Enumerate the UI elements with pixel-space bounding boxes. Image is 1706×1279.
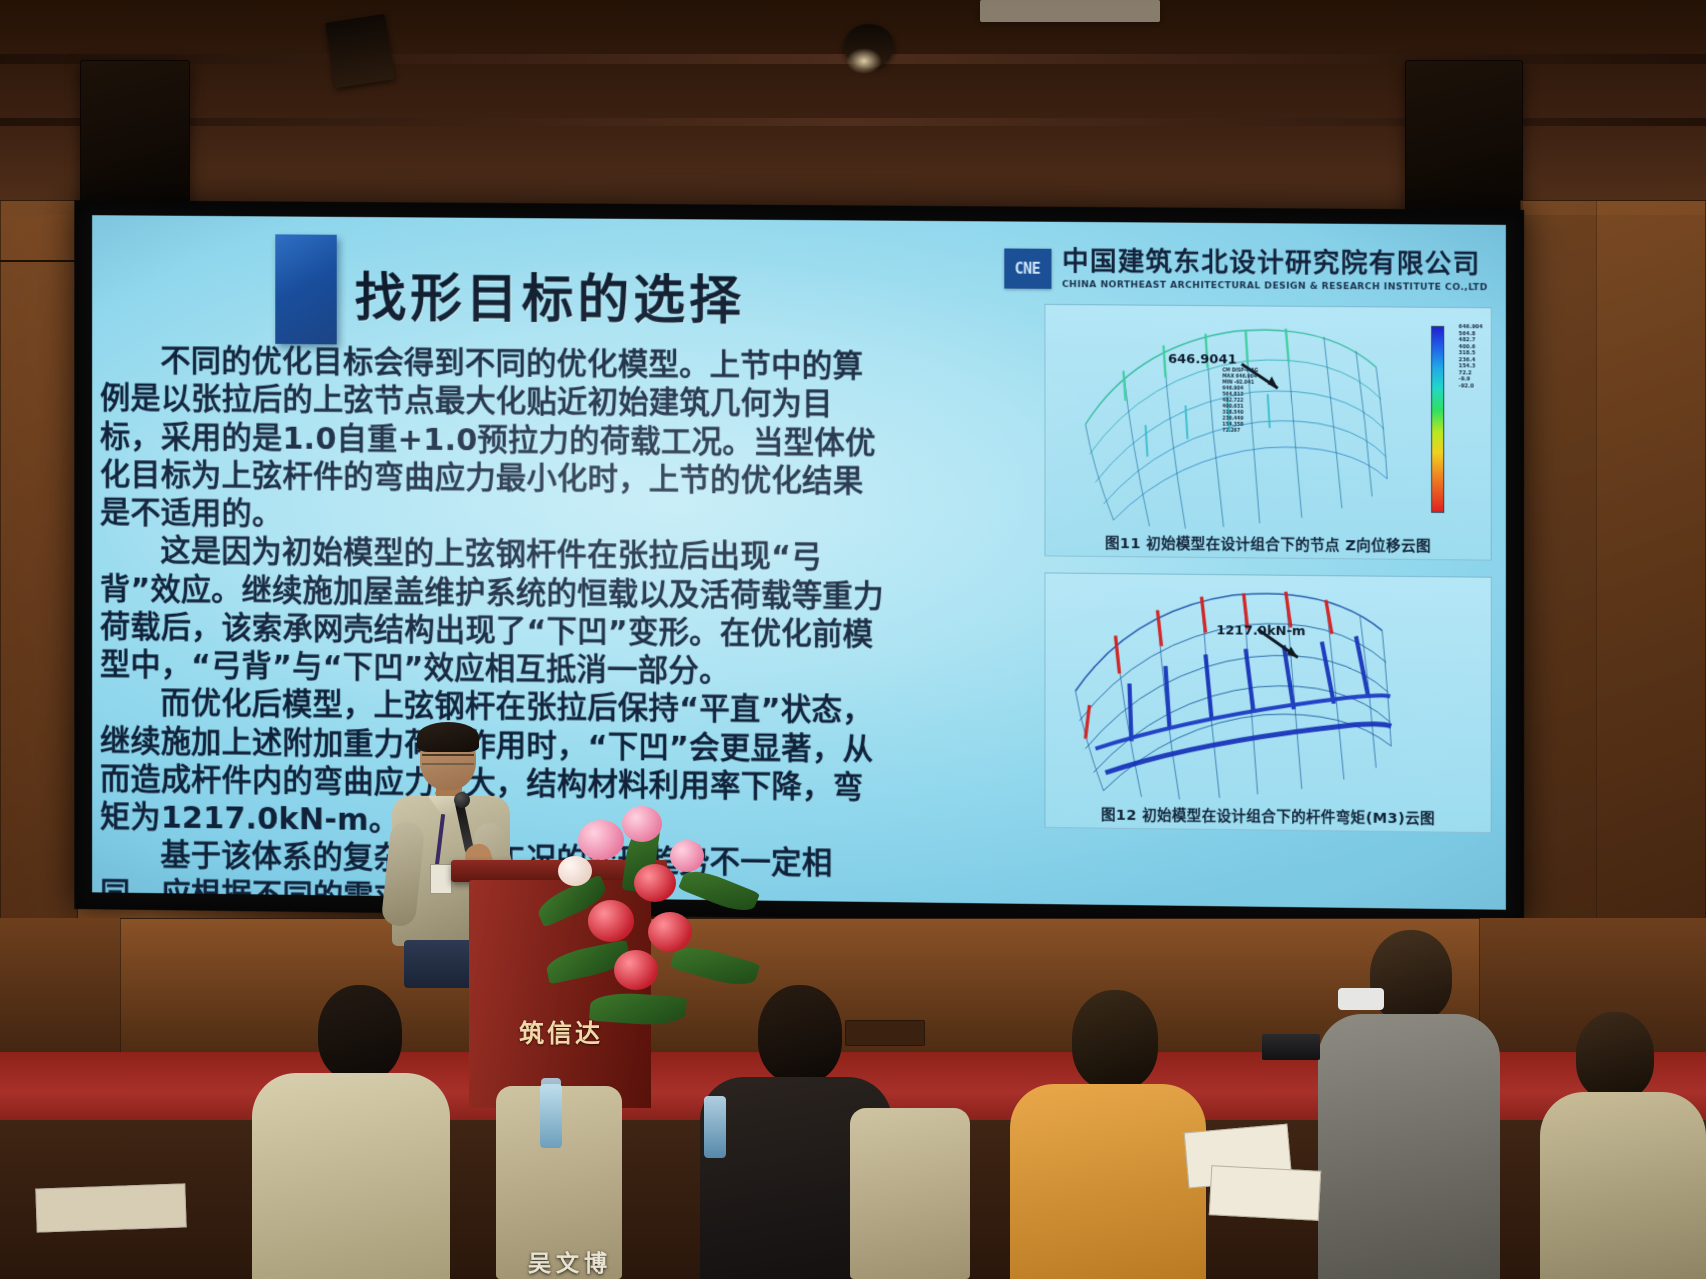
company-name-en: CHINA NORTHEAST ARCHITECTURAL DESIGN & R… — [1062, 279, 1488, 293]
figure-11: 646.9041 646.904564.8482.7400.6318.5236.… — [1044, 304, 1491, 561]
light-glow — [846, 48, 882, 74]
microphone-head-icon — [454, 792, 470, 808]
audience-head — [1576, 1012, 1654, 1100]
slide-title-row: 找形目标的选择 — [275, 234, 745, 347]
projection-screen: 找形目标的选择 CNE 中国建筑东北设计研究院有限公司 CHINA NORTHE… — [74, 200, 1524, 927]
leaf — [670, 941, 760, 992]
company-name-cn: 中国建筑东北设计研究院有限公司 — [1062, 248, 1488, 279]
stage-wall-left — [0, 918, 120, 1068]
device — [1262, 1034, 1320, 1060]
audience-shoulders — [1540, 1092, 1706, 1279]
audience-head — [1072, 990, 1158, 1090]
audience-head — [758, 985, 842, 1083]
stage-light — [325, 14, 395, 89]
fem-moment-contour-plot — [1045, 573, 1490, 806]
audience-member — [1540, 1012, 1706, 1279]
flower-bloom — [558, 856, 592, 886]
figure-11-annotation: 646.9041 — [1168, 352, 1237, 368]
audience-member — [250, 985, 450, 1279]
figure-11-caption: 图11 初始模型在设计组合下的节点 Z向位移云图 — [1045, 531, 1490, 556]
figure-12-caption: 图12 初始模型在设计组合下的杆件弯矩(M3)云图 — [1045, 803, 1490, 829]
water-bottle — [540, 1084, 562, 1148]
paragraph: 不同的优化目标会得到不同的优化模型。上节中的算例是以张拉后的上弦节点最大化贴近初… — [100, 343, 886, 541]
audience-member — [1318, 930, 1500, 1279]
flower-bloom — [622, 806, 662, 842]
legend-values: 646.904564.8482.7400.6318.5236.4154.372.… — [1459, 324, 1483, 390]
flower-bloom — [634, 864, 676, 902]
audience-shoulders — [252, 1073, 450, 1279]
face-mask — [1338, 988, 1384, 1010]
figure-12-canvas — [1045, 573, 1490, 806]
flower-bloom — [670, 840, 704, 872]
figure-12-annotation: 1217.0kN-m — [1216, 623, 1305, 639]
fem-displacement-contour-plot — [1045, 305, 1490, 534]
ceiling-panel-light — [980, 0, 1160, 22]
presenter-badge — [430, 864, 452, 894]
audience-shoulders — [1010, 1084, 1206, 1279]
logo-mark-icon: CNE — [1004, 248, 1051, 288]
flower-bloom — [614, 950, 658, 990]
presenter-glasses — [422, 754, 474, 765]
printed-document — [1209, 1165, 1321, 1221]
figure-11-canvas — [1045, 305, 1490, 534]
company-logo: CNE 中国建筑东北设计研究院有限公司 CHINA NORTHEAST ARCH… — [1004, 247, 1488, 292]
title-accent-bar — [275, 234, 337, 344]
color-legend-bar — [1431, 326, 1444, 513]
audience-shoulders — [1318, 1014, 1500, 1279]
wall-panel — [0, 200, 78, 940]
paragraph: 这是因为初始模型的上弦钢杆件在张拉后出现“弓背”效应。继续施加屋盖维护系统的恒载… — [100, 533, 886, 694]
flower-bloom — [578, 820, 624, 860]
auditorium-room: 找形目标的选择 CNE 中国建筑东北设计研究院有限公司 CHINA NORTHE… — [0, 0, 1706, 1279]
flower-bloom — [588, 900, 634, 942]
audience-head — [318, 985, 402, 1081]
presenter-nameplate: 吴文博 — [430, 1244, 710, 1278]
wall-seam — [0, 260, 76, 262]
presentation-slide: 找形目标的选择 CNE 中国建筑东北设计研究院有限公司 CHINA NORTHE… — [92, 215, 1506, 910]
water-bottle — [704, 1096, 726, 1158]
wall-panel — [1596, 200, 1706, 940]
chair — [850, 1108, 970, 1279]
figure-12: 1217.0kN-m 图12 初始模型在设计组合下的杆件弯矩(M3)云图 — [1044, 572, 1491, 833]
printed-document — [35, 1183, 186, 1232]
page-title: 找形目标的选择 — [355, 273, 745, 348]
leaf — [678, 864, 760, 917]
flower-bloom — [648, 912, 692, 952]
leaf — [589, 991, 687, 1028]
legend-title: CM DISP-MAGMAX 646.904MIN -92.041646.904… — [1222, 368, 1258, 434]
presenter-hair — [417, 722, 479, 752]
audience-member — [1010, 990, 1206, 1279]
